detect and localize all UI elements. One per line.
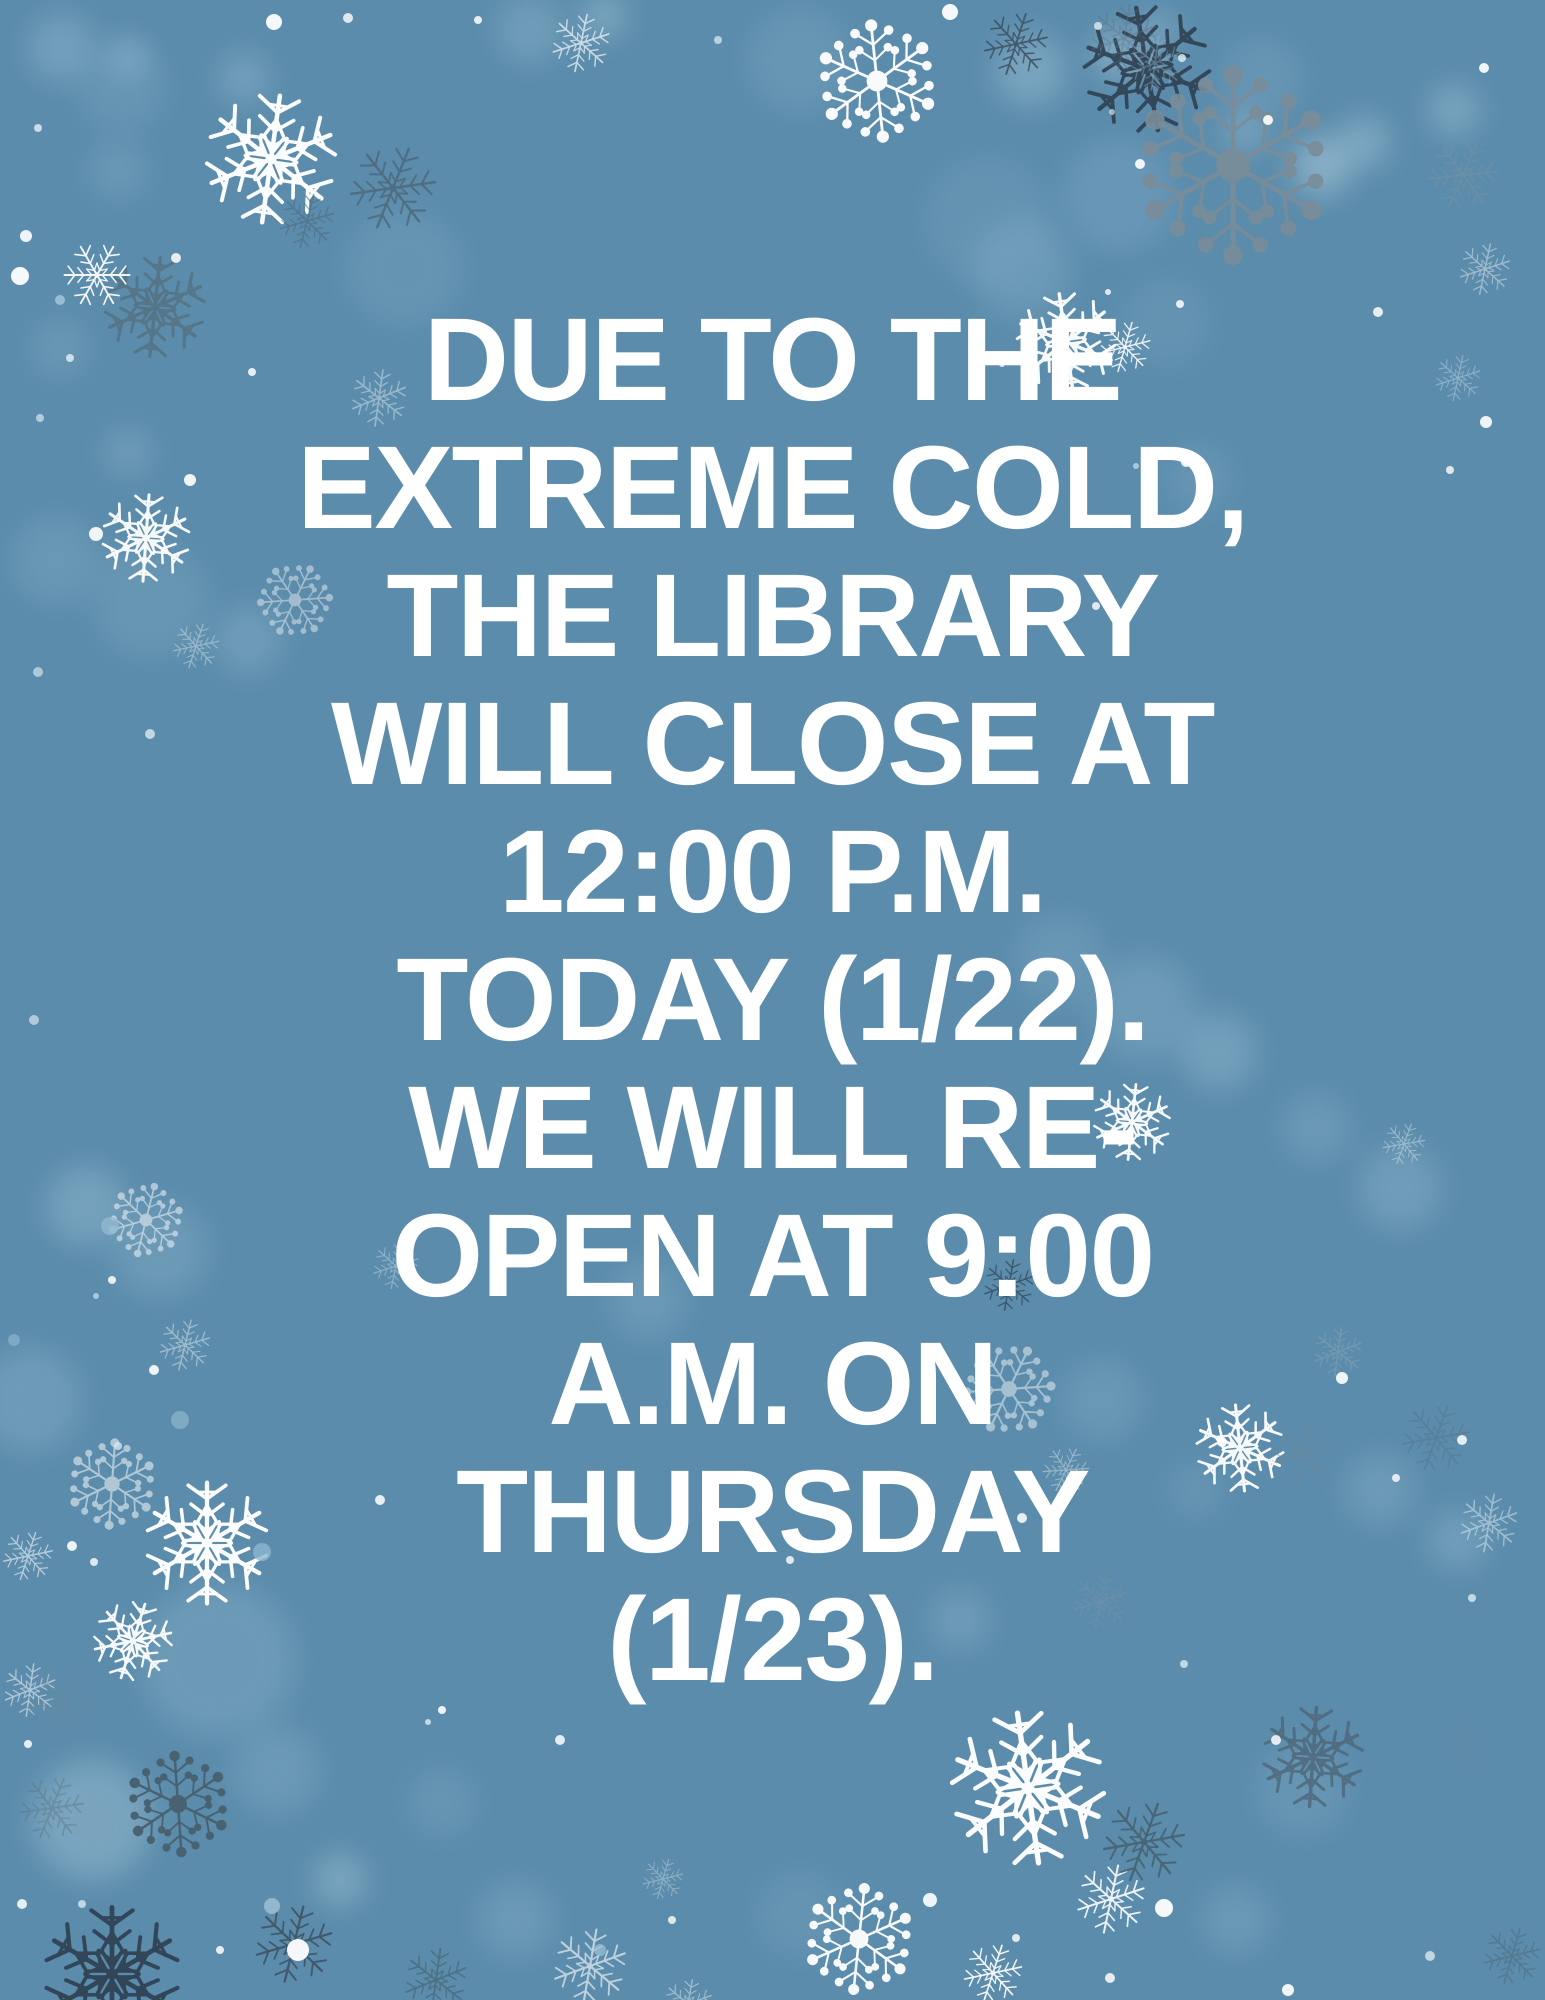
snow-dot: [1135, 159, 1145, 169]
snowflake-icon: [542, 4, 620, 82]
bokeh-circle: [478, 1882, 554, 1958]
snow-dot: [237, 169, 243, 175]
message-line: WE WILL RE-: [40, 1064, 1505, 1192]
bokeh-circle: [232, 1726, 320, 1814]
snow-dot: [343, 13, 353, 23]
bokeh-circle: [756, 1870, 844, 1958]
snow-dot: [78, 1900, 86, 1908]
snow-dot: [714, 36, 722, 44]
snowflake-icon: [656, 1972, 721, 2000]
bokeh-circle: [1338, 116, 1390, 168]
bokeh-circle: [1094, 30, 1142, 78]
snowflake-icon: [1451, 235, 1520, 304]
snowflake-icon: [1065, 1853, 1158, 1946]
snow-dot: [1271, 1735, 1281, 1745]
snow-dot: [942, 4, 958, 20]
snow-dot: [1282, 1984, 1294, 1996]
bokeh-circle: [582, 0, 626, 38]
snowflake-icon: [794, 1874, 924, 2000]
bokeh-circle: [994, 34, 1066, 106]
snow-dot: [1109, 109, 1115, 115]
snow-dot: [1012, 1934, 1020, 1942]
message-line: THE LIBRARY: [40, 552, 1505, 680]
bokeh-circle: [408, 1768, 476, 1836]
snowflake-icon: [951, 1931, 1034, 2000]
snowflake-icon: [241, 1891, 348, 1998]
bokeh-circle: [1222, 110, 1266, 154]
message-line: DUE TO THE: [40, 296, 1505, 424]
message-line: (1/23).: [40, 1576, 1505, 1704]
snowflake-icon: [1431, 1715, 1495, 1779]
snowflake-icon: [1120, 28, 1190, 98]
snowflake-icon: [635, 1851, 692, 1908]
snow-dot: [24, 1740, 32, 1748]
snowflake-icon: [1085, 1783, 1203, 1901]
snow-dot: [555, 1735, 565, 1745]
message-line: TODAY (1/22).: [40, 936, 1505, 1064]
snow-dot: [668, 1916, 676, 1924]
snowflake-icon: [933, 1693, 1123, 1883]
snowflake-icon: [1412, 124, 1515, 227]
snow-dot: [11, 267, 29, 285]
snowflake-icon: [1067, 0, 1227, 149]
snowflake-icon: [1080, 0, 1168, 82]
snowflake-icon: [118, 1744, 238, 1864]
snowflake-icon: [1254, 1698, 1371, 1815]
snow-dot: [34, 124, 42, 132]
winter-closure-poster: DUE TO THE EXTREME COLD, THE LIBRARY WIL…: [0, 0, 1545, 2000]
snow-dot: [1094, 22, 1102, 30]
snowflake-icon: [395, 1939, 476, 2000]
closure-message: DUE TO THE EXTREME COLD, THE LIBRARY WIL…: [0, 296, 1545, 1704]
snow-dot: [1105, 1973, 1115, 1983]
snow-dot: [287, 1939, 309, 1961]
snowflake-icon: [5, 1761, 99, 1855]
bokeh-circle: [496, 0, 564, 64]
snow-dot: [1479, 63, 1489, 73]
snow-dot: [438, 1706, 446, 1714]
bokeh-circle: [1202, 1886, 1270, 1954]
bokeh-circle: [28, 14, 96, 82]
bokeh-circle: [1428, 84, 1480, 136]
bokeh-circle: [314, 1854, 366, 1906]
snowflake-icon: [38, 1900, 186, 2000]
message-line: OPEN AT 9:00: [40, 1192, 1505, 1320]
bokeh-circle: [1256, 1744, 1348, 1836]
bokeh-circle: [218, 52, 270, 104]
snowflake-icon: [191, 79, 351, 239]
snow-dot: [266, 14, 282, 30]
bokeh-circle: [924, 156, 1052, 284]
snow-dot: [1178, 54, 1186, 62]
snow-dot: [1425, 1951, 1435, 1961]
snowflake-icon: [1128, 60, 1338, 270]
message-line: EXTREME COLD,: [40, 424, 1505, 552]
bokeh-circle: [1062, 140, 1174, 252]
snowflake-icon: [971, 0, 1062, 89]
snowflake-icon: [331, 126, 456, 251]
bokeh-circle: [1292, 136, 1352, 196]
snow-dot: [594, 1944, 606, 1956]
bokeh-circle: [1140, 12, 1176, 48]
snow-dot: [1155, 1899, 1173, 1917]
snow-dot: [923, 1893, 937, 1907]
message-line: THURSDAY: [40, 1448, 1505, 1576]
snow-dot: [264, 1898, 280, 1914]
snow-dot: [171, 253, 181, 263]
bokeh-circle: [32, 1760, 152, 1880]
message-line: 12:00 P.M.: [40, 808, 1505, 936]
bokeh-circle: [88, 140, 148, 200]
snowflake-icon: [806, 10, 949, 153]
snow-dot: [1263, 115, 1273, 125]
message-line: WILL CLOSE AT: [40, 680, 1505, 808]
bokeh-circle: [78, 44, 166, 132]
bokeh-circle: [748, 8, 852, 112]
snowflake-icon: [269, 183, 344, 258]
snow-dot: [474, 16, 482, 24]
snow-dot: [425, 1719, 431, 1725]
bokeh-circle: [110, 40, 146, 76]
bokeh-circle: [1222, 38, 1302, 118]
snowflake-icon: [1472, 1916, 1545, 1995]
snow-dot: [20, 230, 32, 242]
snowflake-icon: [541, 1917, 638, 2000]
message-line: A.M. ON: [40, 1320, 1505, 1448]
snow-dot: [216, 1946, 224, 1954]
snow-dot: [17, 1899, 27, 1909]
